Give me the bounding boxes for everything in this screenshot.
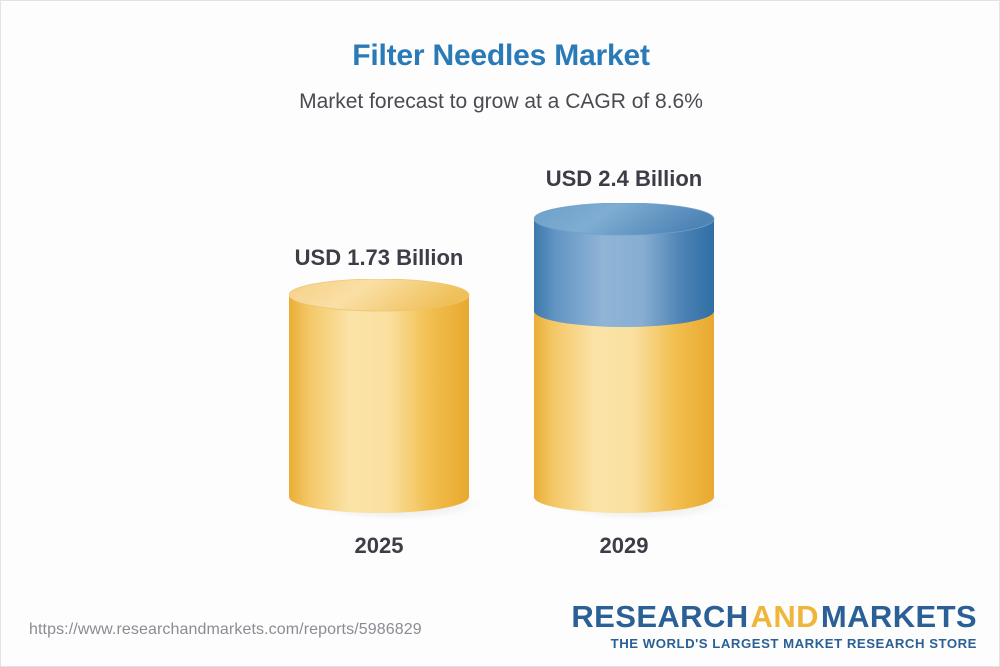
brand-logo[interactable]: RESEARCHANDMARKETS THE WORLD'S LARGEST M… <box>571 601 977 651</box>
cylinder-2029-graphic <box>534 203 734 533</box>
bar-category-label-2029: 2029 <box>484 533 764 559</box>
source-url[interactable]: https://www.researchandmarkets.com/repor… <box>29 621 422 639</box>
chart-canvas: Filter Needles Market Market forecast to… <box>0 0 1000 667</box>
bar-cylinder-2025[interactable] <box>289 279 469 513</box>
cylinder-2025-graphic <box>289 279 489 529</box>
brand-word-markets: MARKETS <box>821 599 977 634</box>
brand-word-and: AND <box>751 599 819 634</box>
bar-category-label-2025: 2025 <box>239 533 519 559</box>
bar-cylinder-2029[interactable] <box>534 203 714 513</box>
brand-tagline: THE WORLD'S LARGEST MARKET RESEARCH STOR… <box>571 636 977 651</box>
plot-area: USD 1.73 Billion <box>1 1 1000 667</box>
brand-wordmark: RESEARCHANDMARKETS <box>571 601 977 633</box>
brand-word-research: RESEARCH <box>571 599 748 634</box>
bar-value-label-2029: USD 2.4 Billion <box>484 166 764 192</box>
bar-value-label-2025: USD 1.73 Billion <box>239 245 519 271</box>
